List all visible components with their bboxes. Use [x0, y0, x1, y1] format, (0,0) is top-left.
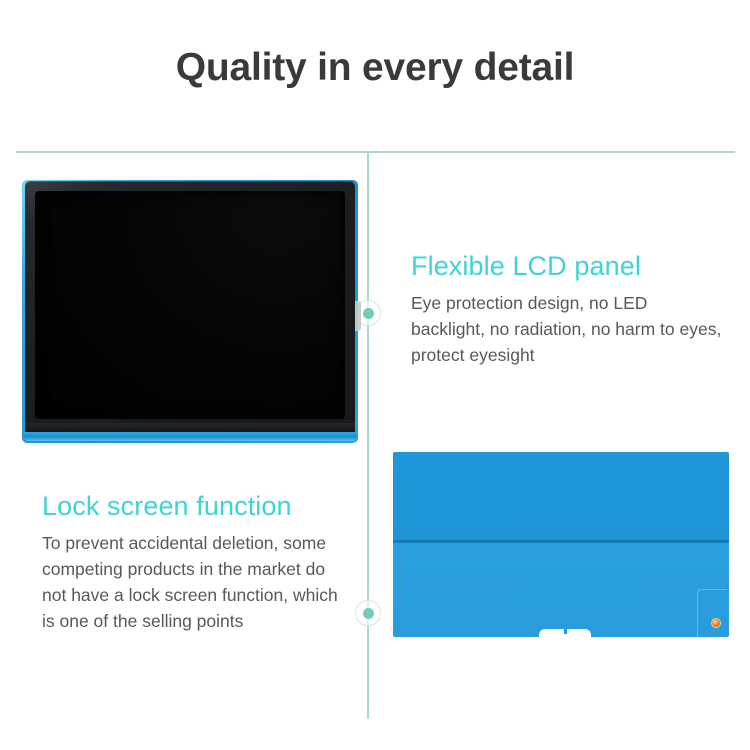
tablet-blue-base-edge — [24, 432, 357, 441]
divider-horizontal — [16, 151, 735, 153]
feature-block-lock-screen-function: Lock screen function To prevent accident… — [42, 490, 354, 634]
feature-heading-lock-screen-function: Lock screen function — [42, 490, 354, 522]
tablet-back-seam-line — [393, 540, 729, 543]
feature-body-lock-screen-function: To prevent accidental deletion, some com… — [42, 530, 354, 634]
feature-block-flexible-lcd-panel: Flexible LCD panel Eye protection design… — [411, 250, 723, 368]
node-marker-bottom-icon — [355, 600, 381, 626]
tablet-bottom-notch-split — [564, 627, 567, 634]
page-title: Quality in every detail — [0, 44, 750, 92]
infographic-page: Quality in every detail Flexible LCD pan… — [0, 0, 750, 750]
screw-icon — [711, 618, 721, 628]
tablet-kickstand-flap — [697, 589, 727, 637]
tablet-front-image — [22, 180, 358, 443]
feature-body-flexible-lcd-panel: Eye protection design, no LED backlight,… — [411, 290, 723, 368]
tablet-side-button-icon — [355, 301, 361, 331]
divider-vertical — [367, 151, 369, 719]
tablet-back-shell — [393, 452, 729, 637]
tablet-screen — [35, 191, 345, 419]
feature-heading-flexible-lcd-panel: Flexible LCD panel — [411, 250, 723, 282]
tablet-back-image — [393, 452, 729, 637]
